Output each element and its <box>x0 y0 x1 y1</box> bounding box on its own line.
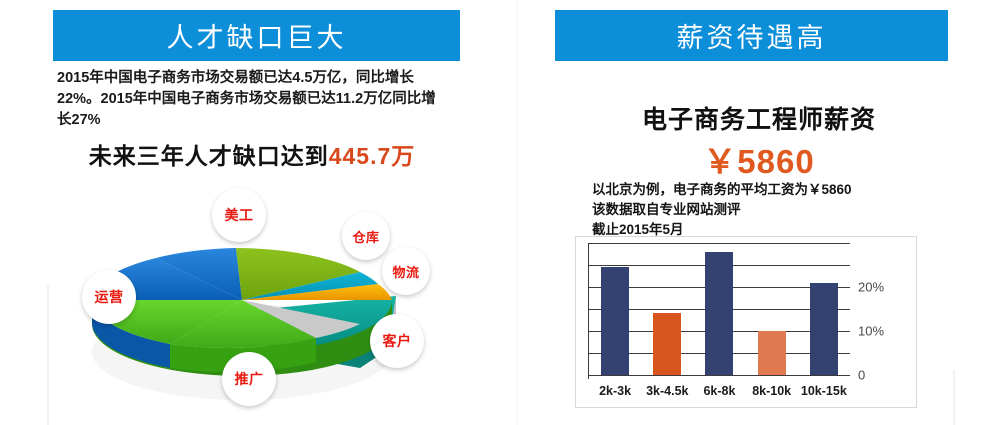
bar-6k-8k <box>705 252 733 375</box>
left-panel: 人才缺口巨大 2015年中国电子商务市场交易额已达4.5万亿，同比增长22%。2… <box>0 0 500 425</box>
pie-callout-kehu: 客户 <box>370 314 424 368</box>
bar-10k-15k <box>810 283 838 375</box>
pie-callout-cangku: 仓库 <box>342 212 390 260</box>
bar-8k-10k <box>758 331 786 375</box>
bar-3k-4.5k <box>653 313 681 375</box>
headline-highlight: 445.7万 <box>329 143 416 169</box>
chart-y-labels: 20% 10% 0 <box>858 237 914 382</box>
ytick-10: 10% <box>858 324 884 339</box>
xtick-2k-3k: 2k-3k <box>589 384 641 398</box>
left-headline: 未来三年人才缺口达到445.7万 <box>57 137 447 171</box>
pie-callout-meigong: 美工 <box>212 188 266 242</box>
pie-callout-label: 推广 <box>235 369 264 389</box>
pie-callout-label: 物流 <box>392 262 419 281</box>
bar-2k-3k <box>601 267 629 375</box>
salary-note: 以北京为例，电子商务的平均工资为￥5860 该数据取自专业网站测评 截止2015… <box>592 180 932 240</box>
chart-x-labels: 2k-3k 3k-4.5k 6k-8k 8k-10k 10k-15k <box>589 379 850 403</box>
xtick-3k-4.5k: 3k-4.5k <box>641 384 693 398</box>
xtick-8k-10k: 8k-10k <box>746 384 798 398</box>
pie-chart: 美工 仓库 物流 客户 推广 运营 <box>60 192 450 407</box>
infographic-page: 人才缺口巨大 2015年中国电子商务市场交易额已达4.5万亿，同比增长22%。2… <box>0 0 1000 425</box>
pie-callout-label: 客户 <box>383 331 412 351</box>
gridline-0 <box>588 375 850 376</box>
left-paragraph: 2015年中国电子商务市场交易额已达4.5万亿，同比增长22%。2015年中国电… <box>57 68 447 131</box>
salary-note-line2: 该数据取自专业网站测评 <box>592 200 932 220</box>
headline-prefix: 未来三年人才缺口达到 <box>89 143 329 169</box>
pie-callout-wuliu: 物流 <box>382 247 430 295</box>
xtick-6k-8k: 6k-8k <box>693 384 745 398</box>
chart-bars <box>589 243 850 375</box>
salary-note-line1: 以北京为例，电子商务的平均工资为￥5860 <box>592 180 932 200</box>
right-banner-title: 薪资待遇高 <box>555 10 948 61</box>
pie-callout-yunying: 运营 <box>82 270 136 324</box>
pie-callout-label: 仓库 <box>352 227 379 246</box>
salary-amount: ￥5860 <box>594 135 924 183</box>
right-panel: 薪资待遇高 电子商务工程师薪资 ￥5860 以北京为例，电子商务的平均工资为￥5… <box>500 0 1000 425</box>
ytick-20: 20% <box>858 280 884 295</box>
pie-callout-label: 运营 <box>95 287 124 307</box>
pie-callout-tuiguang: 推广 <box>222 352 276 406</box>
salary-title: 电子商务工程师薪资 <box>594 100 924 136</box>
salary-bar-chart: 20% 10% 0 2k-3k 3k-4.5k 6k-8k 8k-10k 10k… <box>575 236 917 408</box>
left-banner-title: 人才缺口巨大 <box>53 10 460 61</box>
pie-callout-label: 美工 <box>225 205 254 225</box>
xtick-10k-15k: 10k-15k <box>798 384 850 398</box>
ytick-0: 0 <box>858 368 865 383</box>
